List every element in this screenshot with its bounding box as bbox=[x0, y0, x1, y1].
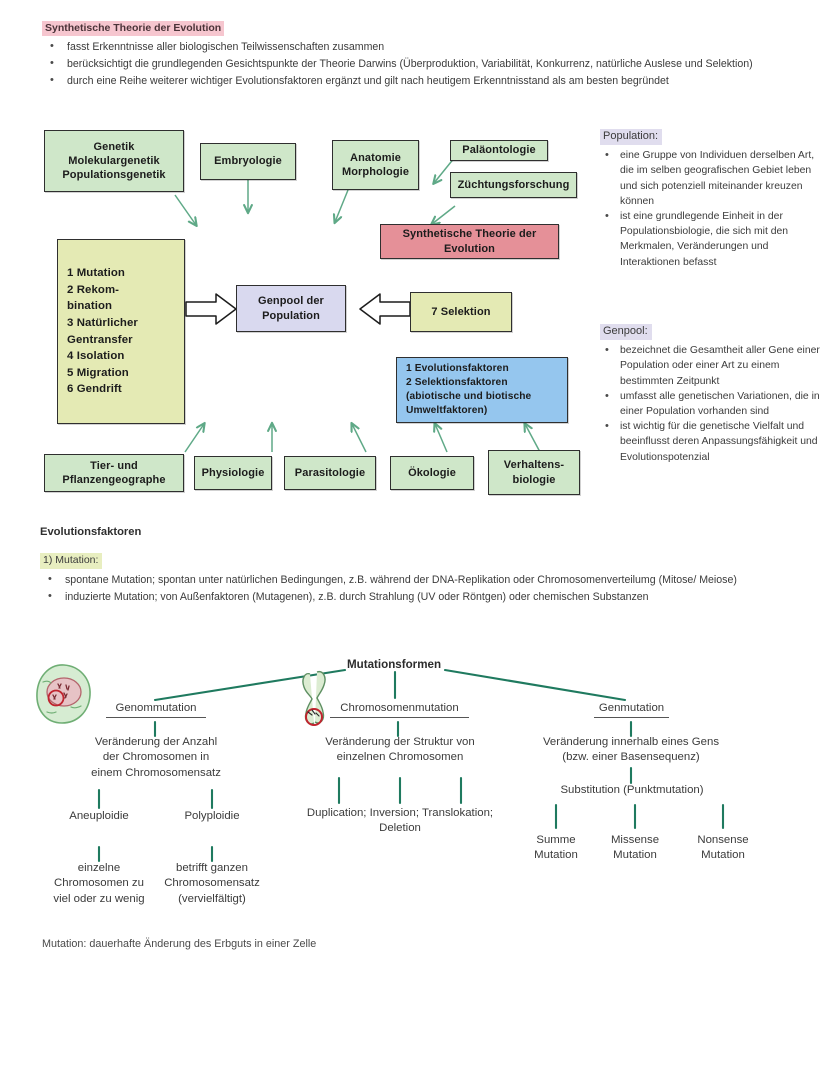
side-note-population: Population: eine Gruppe von Individuen d… bbox=[600, 126, 822, 270]
footer-note: Mutation: dauerhafte Änderung des Erbgut… bbox=[42, 938, 316, 950]
side-note-bullet: eine Gruppe von Individuen derselben Art… bbox=[600, 148, 822, 209]
tree-branch-title-chromosomenmutation: Chromosomenmutation bbox=[330, 701, 469, 718]
tree-branch-desc-genommutation: Veränderung der Anzahl der Chromosomen i… bbox=[68, 735, 244, 781]
page-title: Synthetische Theorie der Evolution bbox=[42, 21, 224, 36]
concept-box-genetik: Genetik Molekulargenetik Populationsgene… bbox=[44, 130, 184, 192]
concept-box-anatomie: Anatomie Morphologie bbox=[332, 140, 419, 190]
concept-box-zuechtungsforschung: Züchtungsforschung bbox=[450, 172, 577, 198]
tree-leaf-polyploidie: Polyploidie bbox=[162, 809, 262, 824]
tree-leaf-nonsense-mutation: Nonsense Mutation bbox=[683, 833, 763, 864]
concept-box-physiologie: Physiologie bbox=[194, 456, 272, 490]
header-bullet: durch eine Reihe weiterer wichtiger Evol… bbox=[42, 74, 822, 89]
side-note-bullet: bezeichnet die Gesamtheit aller Gene ein… bbox=[600, 343, 822, 389]
tree-leaf-aneuploidie-desc: einzelne Chromosomen zu viel oder zu wen… bbox=[39, 861, 159, 907]
concept-box-verhaltensbiologie: Verhaltens- biologie bbox=[488, 450, 580, 495]
tree-leaf-summe-mutation: Summe Mutation bbox=[516, 833, 596, 864]
concept-box-selektion: 7 Selektion bbox=[410, 292, 512, 332]
mutation-subheading: 1) Mutation: bbox=[40, 553, 102, 569]
concept-box-genpool: Genpool der Population bbox=[236, 285, 346, 332]
mutation-bullet-list: spontane Mutation; spontan unter natürli… bbox=[40, 573, 822, 605]
side-note-bullet: umfasst alle genetischen Variationen, di… bbox=[600, 389, 822, 419]
cell-icon bbox=[33, 662, 95, 726]
tree-leaf-missense-mutation: Missense Mutation bbox=[595, 833, 675, 864]
concept-box-embryologie: Embryologie bbox=[200, 143, 296, 180]
header-bullet: fasst Erkenntnisse aller biologischen Te… bbox=[42, 40, 822, 55]
side-note-genpool-list: bezeichnet die Gesamtheit aller Gene ein… bbox=[600, 343, 822, 465]
side-note-genpool: Genpool: bezeichnet die Gesamtheit aller… bbox=[600, 321, 822, 465]
tree-leaf-aneuploidie: Aneuploidie bbox=[49, 809, 149, 824]
tree-branch-desc-chromosomenmutation: Veränderung der Struktur von einzelnen C… bbox=[312, 735, 488, 766]
header-bullet: berücksichtigt die grundlegenden Gesicht… bbox=[42, 57, 822, 72]
concept-box-tier-pflanzengeographie: Tier- und Pflanzengeographe bbox=[44, 454, 184, 492]
tree-node-substitution: Substitution (Punktmutation) bbox=[544, 783, 720, 798]
side-note-population-list: eine Gruppe von Individuen derselben Art… bbox=[600, 148, 822, 270]
side-note-population-title: Population: bbox=[600, 129, 662, 145]
concept-box-parasitologie: Parasitologie bbox=[284, 456, 376, 490]
header-block: Synthetische Theorie der Evolution fasst… bbox=[42, 18, 822, 91]
evolutionsfaktoren-heading: Evolutionsfaktoren bbox=[40, 526, 822, 538]
mutation-bullet: induzierte Mutation; von Außenfaktoren (… bbox=[40, 590, 822, 605]
tree-branch-desc-genmutation: Veränderung innerhalb eines Gens (bzw. e… bbox=[528, 735, 734, 766]
tree-leaf-chromosomen-typen: Duplication; Inversion; Translokation; D… bbox=[304, 806, 496, 837]
concept-box-palaeontologie: Paläontologie bbox=[450, 140, 548, 161]
side-note-bullet: ist eine grundlegende Einheit in der Pop… bbox=[600, 209, 822, 270]
side-note-genpool-title: Genpool: bbox=[600, 324, 652, 340]
concept-box-evolutionsfaktoren-liste: 1 Mutation 2 Rekom- bination 3 Natürlich… bbox=[57, 239, 185, 424]
header-bullet-list: fasst Erkenntnisse aller biologischen Te… bbox=[42, 40, 822, 89]
chromosome-icon bbox=[297, 668, 339, 730]
concept-box-oekologie: Ökologie bbox=[390, 456, 474, 490]
tree-leaf-polyploidie-desc: betrifft ganzen Chromosomensatz (verviel… bbox=[152, 861, 272, 907]
tree-branch-title-genommutation: Genommutation bbox=[106, 701, 206, 718]
tree-branch-title-genmutation: Genmutation bbox=[594, 701, 669, 718]
concept-box-faktoren-blau: 1 Evolutionsfaktoren 2 Selektionsfaktore… bbox=[396, 357, 568, 423]
tree-root-label: Mutationsformen bbox=[347, 658, 441, 671]
concept-box-synthetische-theorie: Synthetische Theorie der Evolution bbox=[380, 224, 559, 259]
side-note-bullet: ist wichtig für die genetische Vielfalt … bbox=[600, 419, 822, 465]
evolutionsfaktoren-section: Evolutionsfaktoren 1) Mutation: spontane… bbox=[40, 526, 822, 607]
mutation-bullet: spontane Mutation; spontan unter natürli… bbox=[40, 573, 822, 588]
